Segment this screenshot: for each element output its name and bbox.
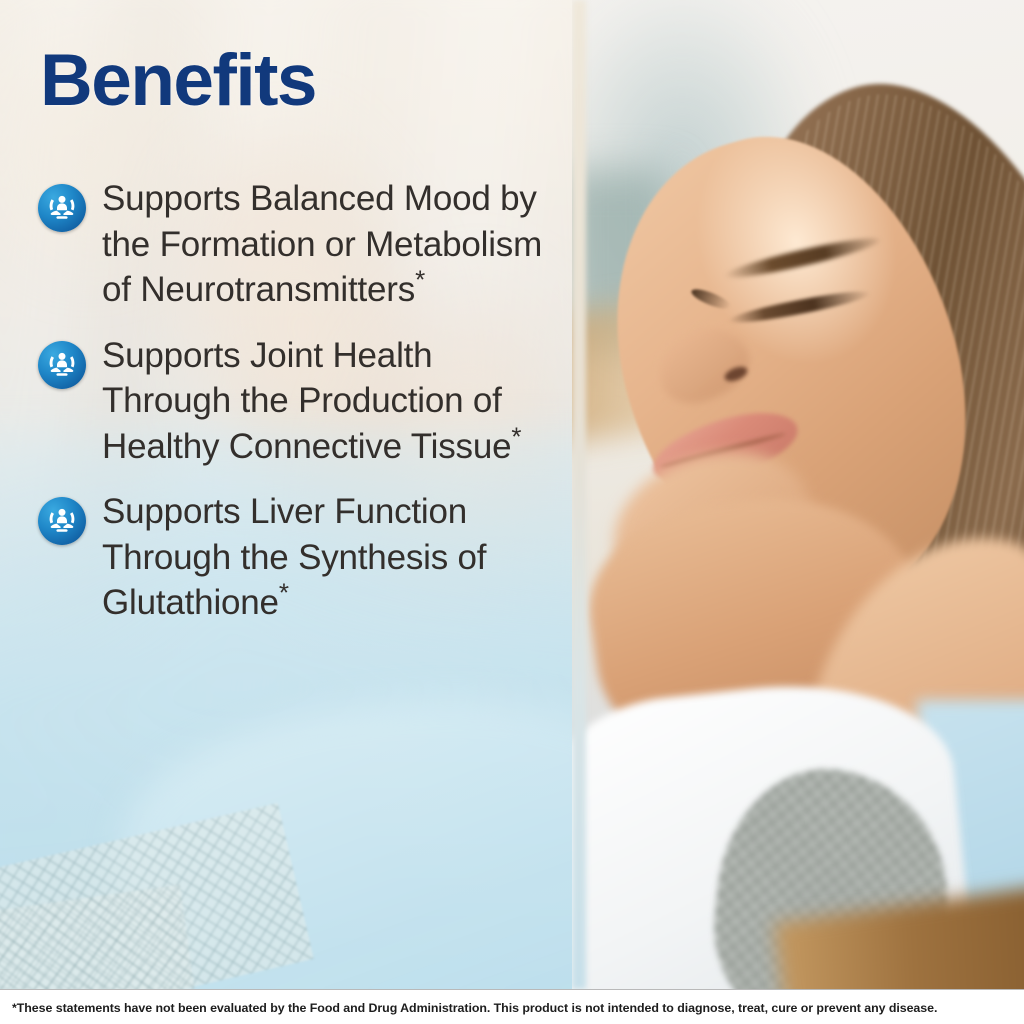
benefit-text-1: Supports Balanced Mood by the Formation … — [102, 176, 562, 313]
asterisk-marker: * — [415, 264, 425, 294]
benefit-item-1: Supports Balanced Mood by the Formation … — [38, 176, 562, 313]
asterisk-marker: * — [279, 577, 289, 607]
disclaimer-text: *These statements have not been evaluate… — [0, 1001, 937, 1015]
photo-left-edge-strip — [572, 0, 586, 989]
benefit-item-2: Supports Joint Health Through the Produc… — [38, 333, 562, 470]
disclaimer-bar: *These statements have not been evaluate… — [0, 989, 1024, 1024]
asterisk-marker: * — [511, 421, 521, 451]
meditating-person-icon — [38, 184, 86, 232]
content-column: Benefits Supports Balanced Mood by the F… — [0, 0, 572, 989]
meditating-person-icon — [38, 341, 86, 389]
meditating-person-icon — [38, 497, 86, 545]
benefit-item-3: Supports Liver Function Through the Synt… — [38, 489, 562, 626]
page-title: Benefits — [40, 44, 316, 117]
benefits-infographic: Benefits Supports Balanced Mood by the F… — [0, 0, 1024, 1024]
benefit-text-2: Supports Joint Health Through the Produc… — [102, 333, 562, 470]
benefits-list: Supports Balanced Mood by the Formation … — [38, 176, 562, 626]
hero-photo — [572, 0, 1024, 989]
benefit-text-3: Supports Liver Function Through the Synt… — [102, 489, 562, 626]
